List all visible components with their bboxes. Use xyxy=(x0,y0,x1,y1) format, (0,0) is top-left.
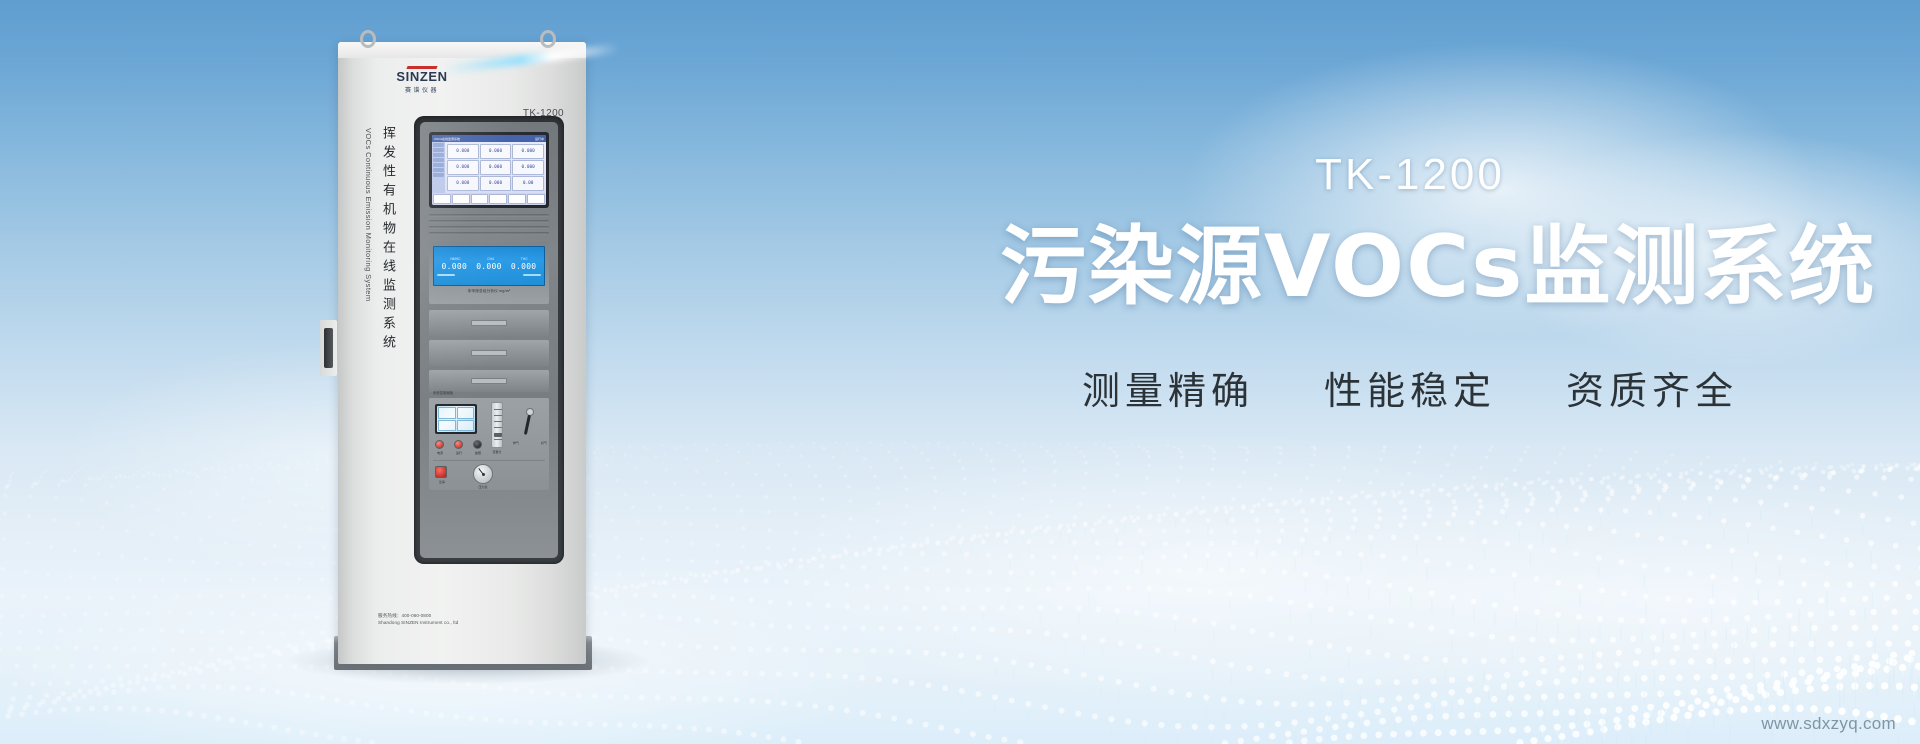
analyzer-caption: 非甲烷总烃分析仪 mg/m³ xyxy=(433,289,545,294)
vent-slot xyxy=(429,232,549,235)
flow-meter-float xyxy=(494,433,502,437)
service-hotline: 服务热线：400-060-0800 xyxy=(378,612,546,619)
site-watermark: www.sdxzyq.com xyxy=(1761,714,1896,734)
mini-tile xyxy=(457,420,475,432)
hmi-side-button[interactable] xyxy=(433,148,444,152)
control-panel-note: 系统控制面板 xyxy=(433,390,453,395)
valve-label: 样气 xyxy=(513,441,519,445)
feature-list: 测量精确 性能稳定 资质齐全 xyxy=(1000,360,1820,415)
cabinet-vertical-text: VOCs Continuous Emission Monitoring Syst… xyxy=(362,126,410,456)
door-handle[interactable] xyxy=(324,328,333,368)
particle-wave-decoration xyxy=(0,414,1920,744)
hmi-title-text: VOCs在线监测系统 xyxy=(434,137,460,141)
hmi-readout-cell: 0.000 xyxy=(480,176,512,191)
pressure-gauge-label: 压力表 xyxy=(469,485,497,489)
lcd-value: 0.000 xyxy=(476,262,502,271)
analyzer-module: NMHC CH4 THC 0.000 0.000 0.000 xyxy=(429,242,549,304)
hmi-readout-cell: 0.000 xyxy=(480,144,512,159)
valve-labels: 样气 标气 xyxy=(513,441,547,445)
gauge-hub xyxy=(482,473,485,476)
hmi-footer-buttons[interactable] xyxy=(432,193,546,205)
lcd-softkey-bar xyxy=(437,274,541,276)
feature-item: 性能稳定 xyxy=(1324,360,1496,415)
cloud-decoration xyxy=(760,430,1660,710)
lamp-label: 故障 xyxy=(471,451,485,455)
feature-item: 测量精确 xyxy=(1082,360,1254,415)
feature-item: 资质齐全 xyxy=(1566,360,1738,415)
brand-name-cn: 赛谱仪器 xyxy=(385,85,459,94)
cabinet-door[interactable]: VOCs在线监测系统 运行中 xyxy=(414,116,564,564)
valve-selector[interactable] xyxy=(521,408,539,438)
cabinet-door-interior: VOCs在线监测系统 运行中 xyxy=(420,122,558,558)
secondary-display-screen xyxy=(437,406,475,432)
lcd-channel-labels: NMHC CH4 THC xyxy=(437,257,541,261)
emergency-stop-button[interactable] xyxy=(435,466,447,478)
drawer-pull[interactable] xyxy=(471,350,507,356)
vent-slot xyxy=(429,214,549,217)
hmi-side-button[interactable] xyxy=(433,163,444,167)
hmi-readout-cell: 0.000 xyxy=(447,160,479,175)
hmi-touchscreen[interactable]: VOCs在线监测系统 运行中 xyxy=(429,132,549,208)
cabinet-nameplate: 服务热线：400-060-0800 Shandong SINZEN Instru… xyxy=(378,612,546,626)
indicator-lamp-row xyxy=(435,440,482,449)
hmi-footer-button[interactable] xyxy=(471,194,489,204)
hmi-footer-button[interactable] xyxy=(452,194,470,204)
hmi-readout-cell: 0.000 xyxy=(480,160,512,175)
control-panel-lower-row: 急停 压力表 xyxy=(435,464,545,488)
hmi-footer-button[interactable] xyxy=(508,194,526,204)
hmi-footer-button[interactable] xyxy=(433,194,451,204)
power-indicator-lamp xyxy=(435,440,444,449)
lcd-softkey xyxy=(437,274,455,276)
hmi-readout-cell: 0.000 xyxy=(512,160,544,175)
hmi-readout-cell: 0.000 xyxy=(512,144,544,159)
equipment-drawer[interactable] xyxy=(429,370,549,392)
lcd-display: NMHC CH4 THC 0.000 0.000 0.000 xyxy=(433,246,545,286)
brand-name: SINZEN xyxy=(385,70,459,83)
secondary-display[interactable] xyxy=(435,404,477,434)
mini-tile xyxy=(438,420,456,432)
hmi-screen: VOCs在线监测系统 运行中 xyxy=(432,135,546,205)
hmi-titlebar: VOCs在线监测系统 运行中 xyxy=(432,135,546,142)
pressure-gauge xyxy=(473,464,493,484)
hmi-side-button[interactable] xyxy=(433,173,444,177)
hmi-readout-cell: 0.000 xyxy=(447,144,479,159)
brand-logo: SINZEN 赛谱仪器 xyxy=(385,66,459,94)
lcd-label: NMHC xyxy=(450,257,460,261)
hmi-body: 0.000 0.000 0.000 0.000 0.000 0.000 0.00… xyxy=(432,142,546,193)
vent-slot xyxy=(429,226,549,229)
hmi-footer-button[interactable] xyxy=(489,194,507,204)
equipment-drawer[interactable] xyxy=(429,310,549,336)
control-panel[interactable]: 系统控制面板 xyxy=(429,398,549,490)
drawer-pull[interactable] xyxy=(471,378,507,384)
vent-slot xyxy=(429,220,549,223)
lcd-softkey xyxy=(523,274,541,276)
analyzer-cabinet: SINZEN 赛谱仪器 TK-1200 VOCs Continuous Emis… xyxy=(338,42,586,664)
lcd-channel-values: 0.000 0.000 0.000 xyxy=(437,262,541,271)
hmi-sidebar[interactable] xyxy=(432,142,445,193)
cloud-decoration xyxy=(1320,470,1920,730)
emergency-stop-label: 急停 xyxy=(433,480,451,484)
lcd-label: CH4 xyxy=(487,257,494,261)
hmi-side-button[interactable] xyxy=(433,153,444,157)
flow-meter xyxy=(491,402,503,448)
mini-tile xyxy=(457,407,475,419)
flow-meter-label: 流量计 xyxy=(487,450,507,454)
hmi-status-text: 运行中 xyxy=(535,137,544,141)
hmi-side-button[interactable] xyxy=(433,158,444,162)
product-model: TK-1200 xyxy=(1000,150,1820,200)
product-image: SINZEN 赛谱仪器 TK-1200 VOCs Continuous Emis… xyxy=(318,28,608,678)
vertical-text-en: VOCs Continuous Emission Monitoring Syst… xyxy=(364,128,373,302)
drawer-pull[interactable] xyxy=(471,320,507,326)
panel-divider xyxy=(433,460,545,461)
hmi-side-button[interactable] xyxy=(433,143,444,147)
vertical-text-cn: 挥发性有机物在线监测系统 xyxy=(378,126,397,354)
hmi-side-button[interactable] xyxy=(433,168,444,172)
hmi-readout-cell: 0.000 xyxy=(447,176,479,191)
lifting-ring-icon xyxy=(540,30,556,48)
lifting-ring-icon xyxy=(360,30,376,48)
lcd-value: 0.000 xyxy=(442,262,468,271)
lamp-label: 电源 xyxy=(433,451,447,455)
logo-accent-bar xyxy=(406,66,437,69)
hmi-footer-button[interactable] xyxy=(527,194,545,204)
valve-label: 标气 xyxy=(541,441,547,445)
equipment-drawer[interactable] xyxy=(429,340,549,366)
product-banner: SINZEN 赛谱仪器 TK-1200 VOCs Continuous Emis… xyxy=(0,0,1920,744)
company-name-en: Shandong SINZEN Instrument co., ltd xyxy=(378,619,546,626)
banner-copy: TK-1200 污染源VOCs监测系统 测量精确 性能稳定 资质齐全 xyxy=(1000,150,1820,415)
run-indicator-lamp xyxy=(454,440,463,449)
hmi-readout-cell: 0.00 xyxy=(512,176,544,191)
valve-lever[interactable] xyxy=(524,415,531,435)
mini-tile xyxy=(438,407,456,419)
lamp-label: 运行 xyxy=(452,451,466,455)
lcd-label: THC xyxy=(521,257,528,261)
lcd-value: 0.000 xyxy=(511,262,537,271)
hmi-readout-grid: 0.000 0.000 0.000 0.000 0.000 0.000 0.00… xyxy=(445,142,546,193)
fault-indicator-lamp xyxy=(473,440,482,449)
banner-headline: 污染源VOCs监测系统 xyxy=(1000,222,1820,312)
